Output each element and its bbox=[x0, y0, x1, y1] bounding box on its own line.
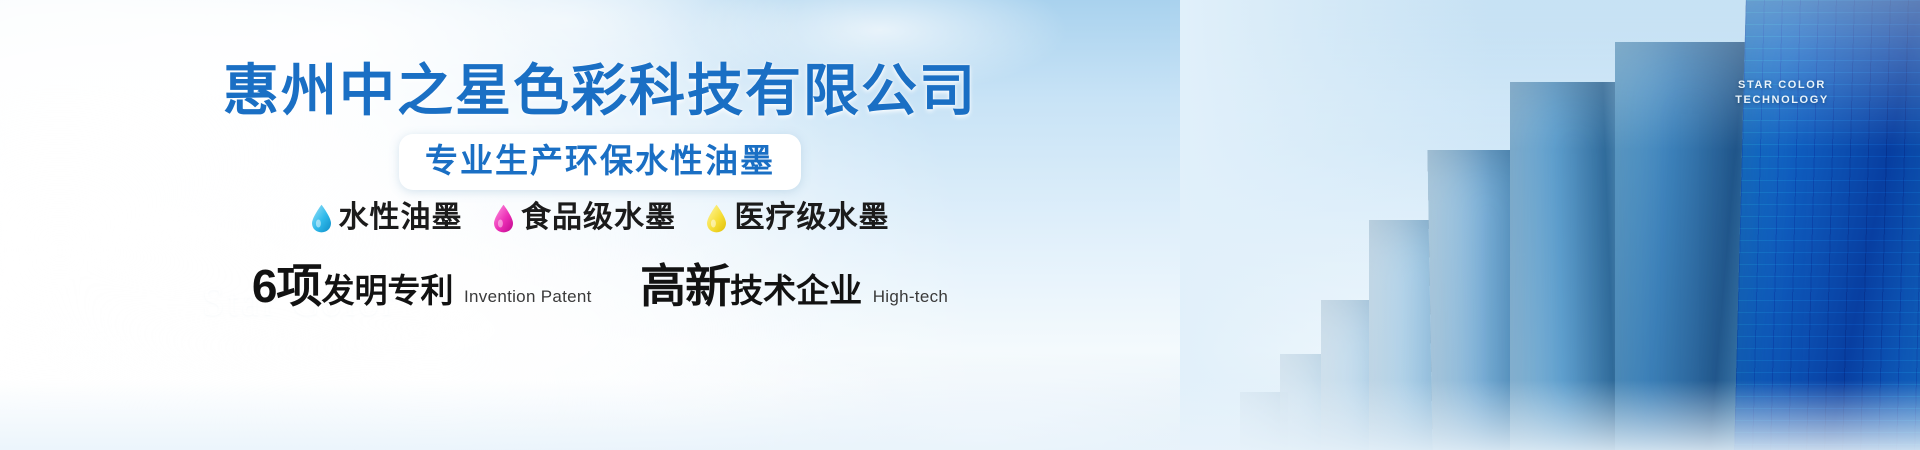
badge-text: 发明专利 bbox=[321, 272, 453, 309]
badge-high-tech: 高新技术企业 High-tech bbox=[640, 262, 948, 315]
water-drop-icon bbox=[706, 204, 727, 233]
water-drop-icon bbox=[493, 204, 514, 233]
corner-brand-line2: TECHNOLOGY bbox=[1722, 93, 1842, 108]
badge-subtitle: Invention Patent bbox=[464, 287, 592, 306]
tagline-pill: 专业生产环保水性油墨 bbox=[399, 134, 801, 190]
promo-banner: Star Color STAR COLOR TECHNOLOGY 惠州中之星色彩… bbox=[0, 0, 1920, 450]
badge-invention-patent: 6项发明专利 Invention Patent bbox=[252, 262, 592, 315]
badge-headline: 高新技术企业 bbox=[640, 269, 873, 311]
feature-label: 医疗级水墨 bbox=[734, 198, 889, 238]
badge-number: 6项 bbox=[252, 260, 322, 312]
badge-headline: 6项发明专利 bbox=[252, 269, 464, 311]
city-skyline-image bbox=[1180, 0, 1920, 450]
badge-subtitle: High-tech bbox=[873, 287, 948, 306]
feature-label: 食品级水墨 bbox=[521, 198, 676, 238]
feature-item-water-ink: 水性油墨 bbox=[311, 198, 463, 238]
banner-content: 惠州中之星色彩科技有限公司 专业生产环保水性油墨 水性油墨 bbox=[0, 0, 1200, 450]
feature-list: 水性油墨 食品级水墨 bbox=[0, 198, 1200, 238]
badge-text: 技术企业 bbox=[730, 272, 862, 309]
feature-label: 水性油墨 bbox=[339, 198, 463, 238]
tagline-row: 专业生产环保水性油墨 bbox=[0, 134, 1200, 190]
badge-number: 高新 bbox=[640, 260, 730, 312]
corner-brand-mark: STAR COLOR TECHNOLOGY bbox=[1722, 78, 1842, 108]
corner-brand-line1: STAR COLOR bbox=[1722, 78, 1842, 93]
water-drop-icon bbox=[311, 204, 332, 233]
credential-badges: 6项发明专利 Invention Patent 高新技术企业 High-tech bbox=[0, 262, 1200, 315]
feature-item-medical-grade-ink: 医疗级水墨 bbox=[706, 198, 889, 238]
feature-item-food-grade-ink: 食品级水墨 bbox=[493, 198, 676, 238]
company-title: 惠州中之星色彩科技有限公司 bbox=[0, 58, 1200, 124]
